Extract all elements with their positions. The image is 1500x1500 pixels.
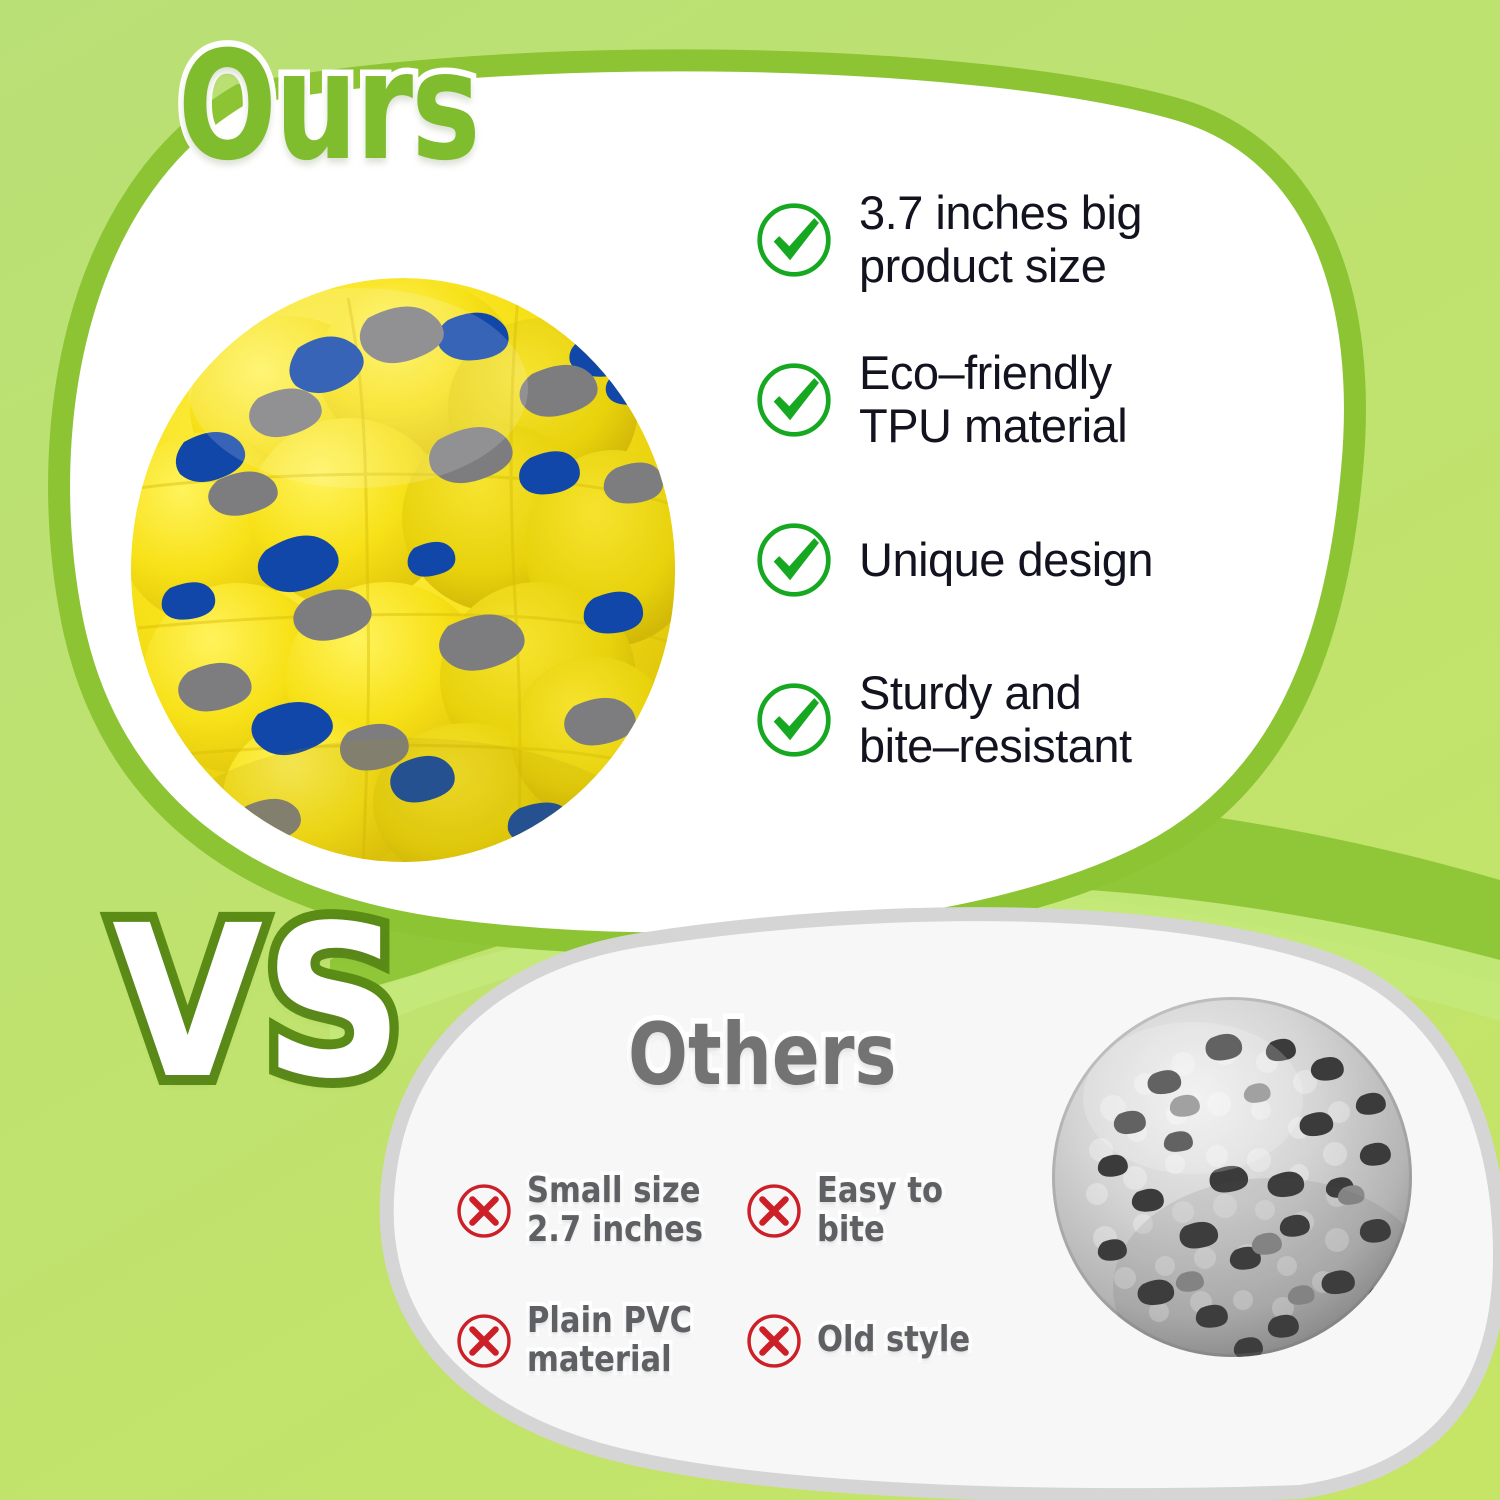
feature-label: Unique design	[859, 534, 1153, 587]
drawback-row: Small size 2.7 inches	[455, 1168, 745, 1253]
x-circle-icon	[455, 1312, 513, 1370]
ours-section: Ours	[0, 0, 1500, 1000]
drawback-row: Plain PVC material	[455, 1298, 745, 1383]
feature-label: Eco–friendly TPU material	[859, 347, 1127, 452]
feature-row: 3.7 inches big product size	[755, 160, 1235, 320]
check-circle-icon	[755, 521, 833, 599]
drawback-label: Old style	[817, 1321, 970, 1360]
drawback-label: Small size 2.7 inches	[527, 1172, 703, 1250]
feature-row: Sturdy and bite–resistant	[755, 640, 1235, 800]
drawback-label: Easy to bite	[817, 1172, 1002, 1250]
ours-product-image	[118, 258, 688, 878]
drawback-label: Plain PVC material	[527, 1302, 692, 1380]
vs-badge: VS	[112, 898, 404, 1108]
comparison-infographic: Ours	[0, 0, 1500, 1500]
feature-label: Sturdy and bite–resistant	[859, 667, 1132, 772]
others-product-image	[1043, 988, 1421, 1366]
check-circle-icon	[755, 361, 833, 439]
others-title: Others	[628, 1012, 896, 1098]
check-circle-icon	[755, 201, 833, 279]
drawback-row: Easy to bite	[745, 1168, 1035, 1253]
feature-row: Unique design	[755, 480, 1235, 640]
x-circle-icon	[745, 1182, 803, 1240]
check-circle-icon	[755, 681, 833, 759]
ours-feature-list: 3.7 inches big product size Eco–friendly…	[755, 160, 1235, 800]
others-drawback-list: Small size 2.7 inches Easy to bite Plain…	[455, 1168, 1055, 1383]
drawback-row: Old style	[745, 1298, 1035, 1383]
x-circle-icon	[745, 1312, 803, 1370]
feature-label: 3.7 inches big product size	[859, 187, 1142, 292]
feature-row: Eco–friendly TPU material	[755, 320, 1235, 480]
ours-title: Ours	[178, 32, 479, 182]
x-circle-icon	[455, 1182, 513, 1240]
